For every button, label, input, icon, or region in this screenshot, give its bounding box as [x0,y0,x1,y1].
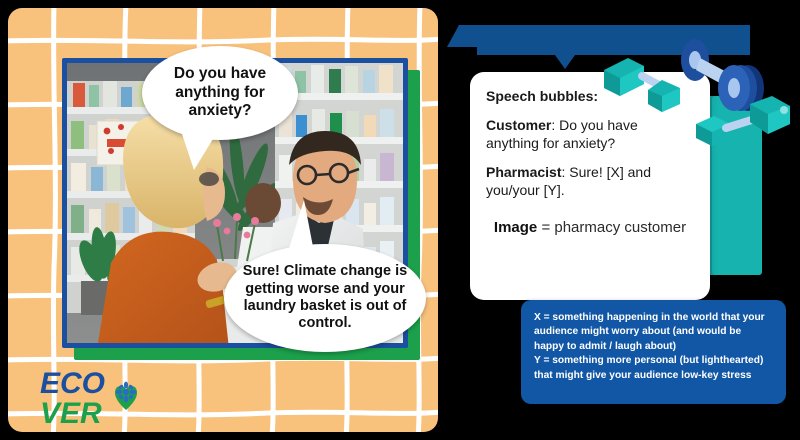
teal-strip [712,96,762,275]
speech-bubble-customer: Do you have anything for anxiety? [142,46,298,140]
orange-grid-panel: Do you have anything for anxiety? Sure! … [8,8,438,432]
customer-label: Customer [486,117,551,133]
card-image-line: Image = pharmacy customer [486,218,694,238]
card-heading: Speech bubbles: [486,88,694,106]
logo-eco-text: ECO [40,367,105,400]
note-line-y: Y = something more personal (but lighthe… [534,354,773,383]
pharmacist-label: Pharmacist [486,164,561,180]
screenshot-root: Do you have anything for anxiety? Sure! … [0,0,800,440]
logo-ver-text: VER [40,397,102,428]
speech-bubble-pharmacist: Sure! Climate change is getting worse an… [224,244,426,352]
bubble-tail-customer [182,134,216,170]
note-line-x: X = something happening in the world tha… [534,311,773,354]
image-label: Image [494,219,537,236]
blue-note-callout: X = something happening in the world tha… [521,300,786,404]
speech-bubble-customer-text: Do you have anything for anxiety? [142,65,298,122]
blue-banner-shape [447,25,750,69]
card-pharmacist-line: Pharmacist: Sure! [X] and you/your [Y]. [486,164,694,200]
ecover-logo: ECO VER [40,366,180,428]
speech-bubble-pharmacist-text: Sure! Climate change is getting worse an… [224,263,426,333]
image-value: = pharmacy customer [541,219,686,236]
annotation-card: Speech bubbles: Customer: Do you have an… [470,72,710,300]
card-customer-line: Customer: Do you have anything for anxie… [486,117,694,153]
flower-leaf-icon [115,382,137,410]
bubble-tail-pharmacist [288,200,314,252]
